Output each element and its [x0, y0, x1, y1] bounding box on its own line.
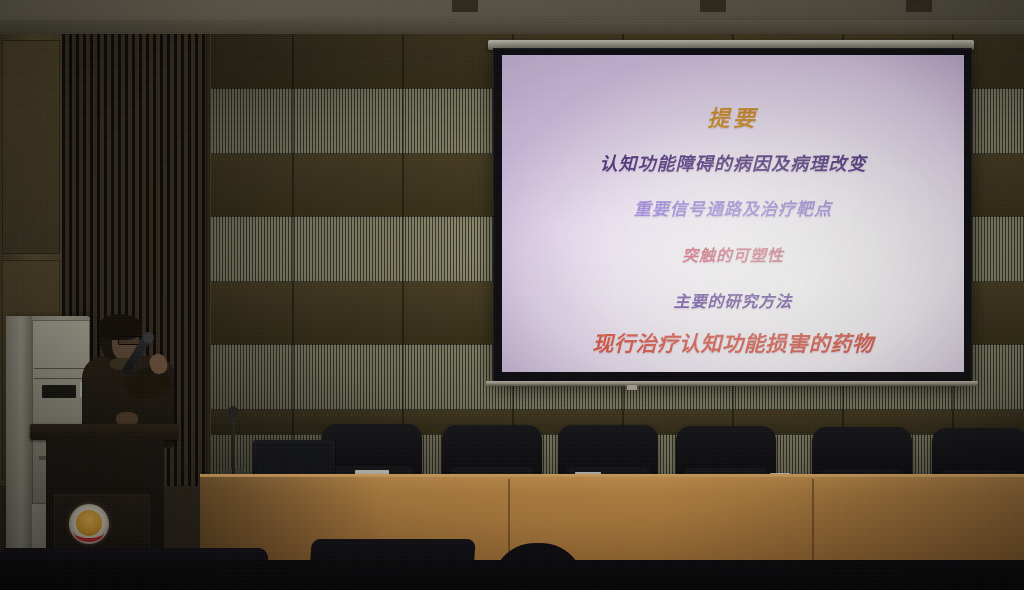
wall-panel-seam [292, 34, 294, 486]
slide-bullet-4: 主要的研究方法 [674, 288, 793, 312]
institution-emblem-icon [69, 504, 109, 544]
laptop-screen [257, 443, 331, 476]
wall-corner-edge [206, 34, 211, 486]
lecture-hall-photo: 提要 认知功能障碍的病因及病理改变 重要信号通路及治疗靶点 突触的可塑性 主要的… [0, 0, 1024, 590]
foreground-shadow [0, 560, 1024, 590]
slide-bullet-1: 认知功能障碍的病因及病理改变 [599, 150, 866, 176]
pillar-panel-upper [2, 40, 60, 254]
ac-side-column [6, 316, 32, 552]
ceiling-vent-icon [700, 0, 726, 12]
projection-screen[interactable]: 提要 认知功能障碍的病因及病理改变 重要信号通路及治疗靶点 突触的可塑性 主要的… [493, 48, 972, 383]
emblem-swoosh [74, 523, 104, 542]
slide-bullet-5: 现行治疗认知功能损害的药物 [592, 328, 873, 358]
screen-bottom-bar [486, 381, 978, 386]
desk-gooseneck-microphone [232, 409, 235, 475]
slide-title: 提要 [707, 101, 758, 133]
slide-bullet-2: 重要信号通路及治疗靶点 [634, 195, 832, 220]
ac-display-icon [42, 385, 76, 398]
screen-weight-tab [627, 385, 637, 390]
screen-surface: 提要 认知功能障碍的病因及病理改变 重要信号通路及治疗靶点 突触的可塑性 主要的… [502, 55, 964, 372]
slide-bullet-3: 突触的可塑性 [682, 242, 784, 266]
ceiling-vent-icon [906, 0, 932, 12]
gooseneck-mic-head-icon [228, 406, 238, 418]
wall-panel-seam [402, 34, 404, 486]
presentation-slide: 提要 认知功能障碍的病因及病理改变 重要信号通路及治疗靶点 突触的可塑性 主要的… [502, 55, 964, 372]
ceiling-vent-icon [452, 0, 478, 12]
